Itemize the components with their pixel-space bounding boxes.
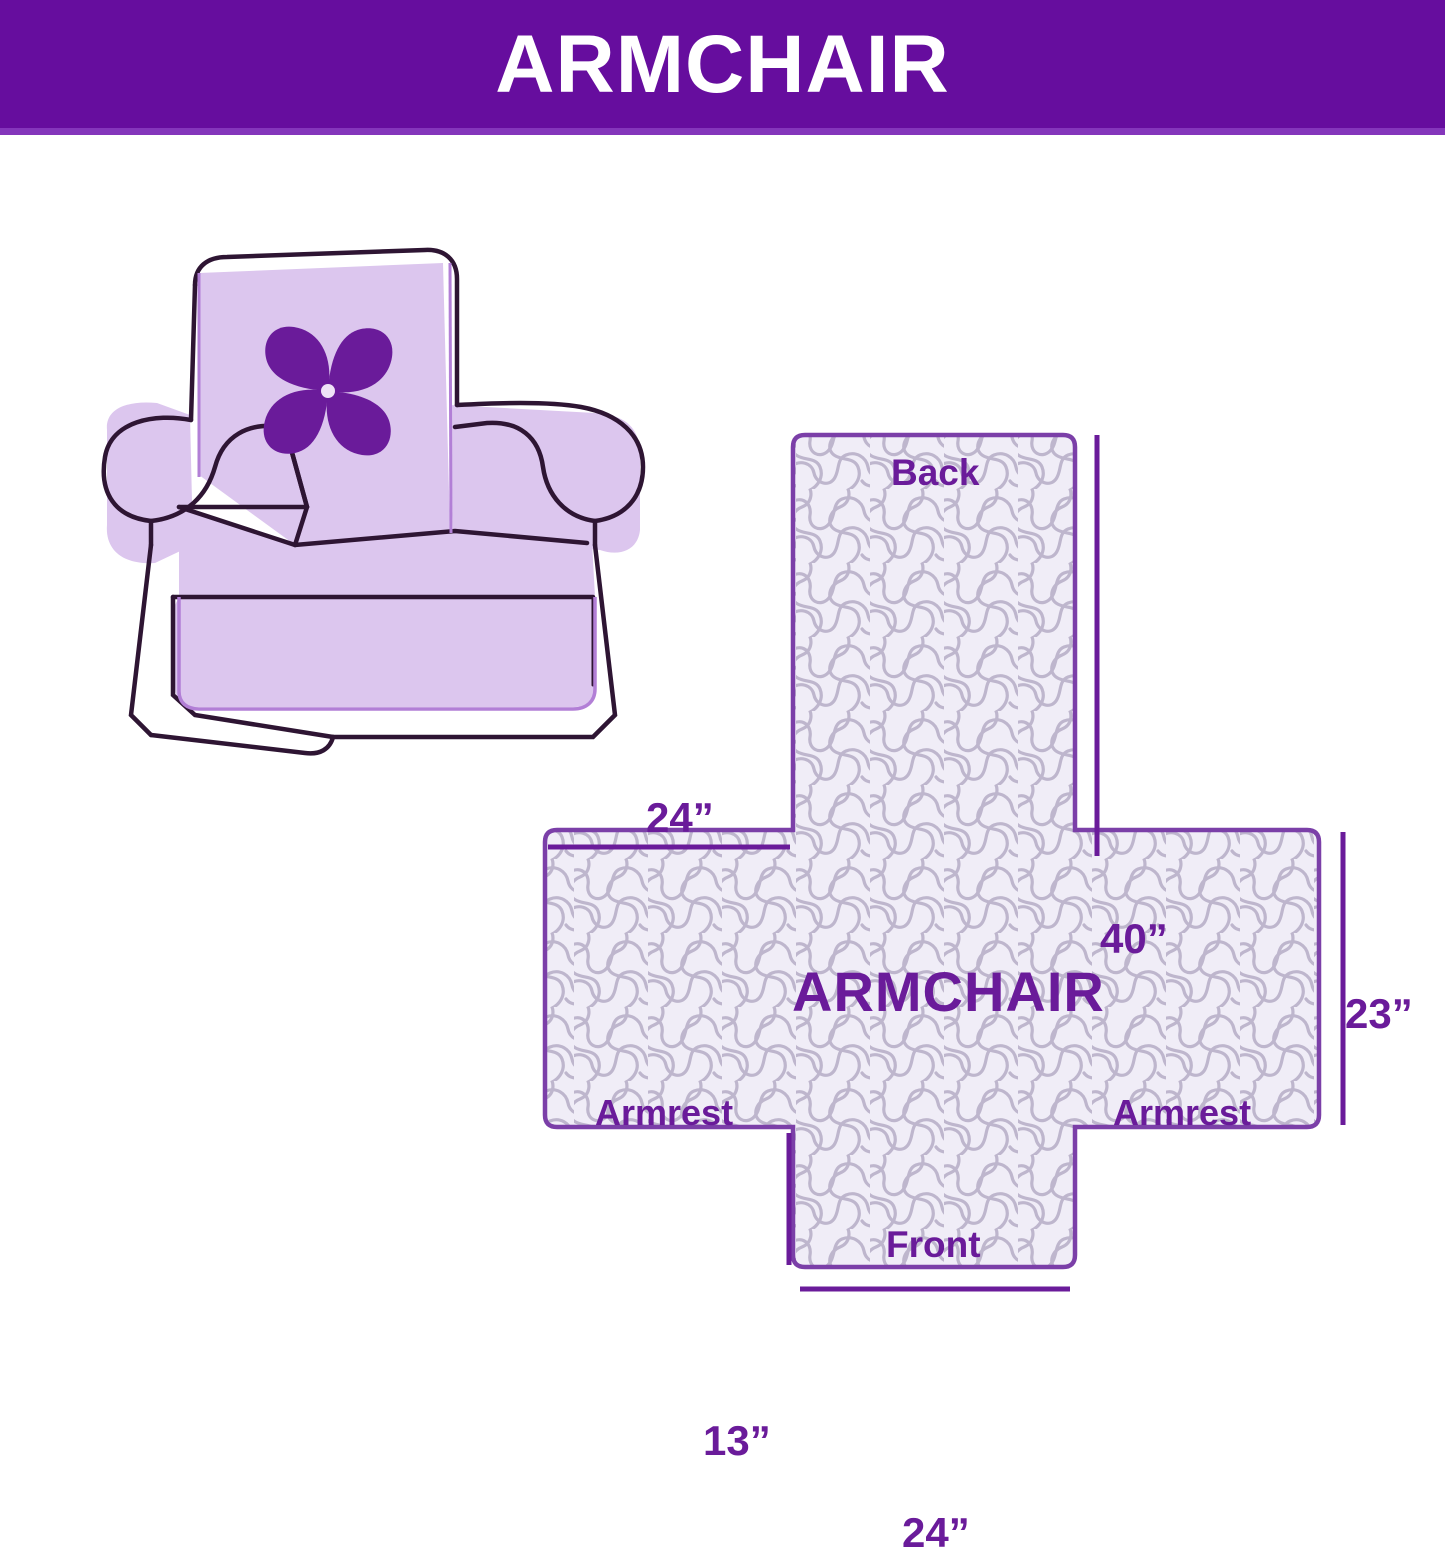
dimension-back-height: 40” (1100, 918, 1168, 960)
content-stage: Back ARMCHAIR Armrest Armrest Front 40” … (0, 135, 1445, 1445)
dimension-front-width: 24” (902, 1512, 970, 1554)
header-band: ARMCHAIR (0, 0, 1445, 128)
label-armrest-left: Armrest (595, 1095, 733, 1131)
label-back: Back (891, 454, 979, 491)
dimension-front-height: 13” (703, 1420, 771, 1462)
label-armrest-right: Armrest (1113, 1095, 1251, 1131)
label-front: Front (886, 1226, 981, 1263)
backrest-left-edge (191, 285, 195, 420)
cross-panel (500, 415, 1445, 1435)
dimension-center-height: 23” (1345, 993, 1413, 1035)
chair-base-left (131, 545, 151, 735)
page-title: ARMCHAIR (495, 24, 949, 106)
dimension-back-width: 24” (646, 797, 714, 839)
chair-base-front (151, 735, 333, 753)
label-armchair: ARMCHAIR (792, 964, 1105, 1020)
cover-seam-back-right (450, 263, 451, 533)
slipcover-diagram: Back ARMCHAIR Armrest Armrest Front 40” … (500, 415, 1445, 1435)
header-underline (0, 128, 1445, 135)
